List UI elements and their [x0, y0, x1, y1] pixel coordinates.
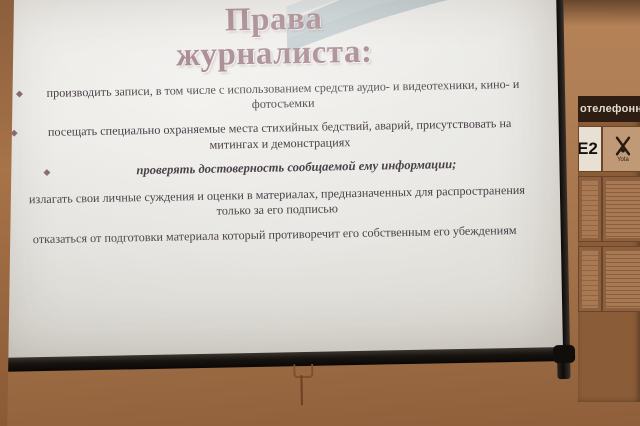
bullet-text: излагать свои личные суждения и оценки в…	[29, 183, 525, 218]
board-brand-label: Yota	[617, 157, 629, 163]
bullet-text: посещать специально охраняемые места сти…	[48, 116, 512, 151]
board-document-panel	[602, 176, 640, 242]
slide-bullet-item: ◆ излагать свои личные суждения и оценки…	[10, 182, 544, 223]
bullet-diamond-icon: ◆	[43, 166, 50, 180]
slide-bullet-item-emphasized: ◆ проверять достоверность сообщаемой ему…	[9, 156, 543, 182]
bullet-text: проверять достоверность сообщаемой ему и…	[136, 157, 456, 177]
slide-bullet-item: ◆ отказаться от подготовки материала кот…	[11, 222, 545, 248]
screen-pull-ring[interactable]	[293, 364, 313, 378]
board-brand-panel: Yota	[602, 126, 640, 172]
bullet-text: отказаться от подготовки материала котор…	[33, 223, 517, 246]
board-document-panel	[602, 246, 640, 312]
screen-fabric: Права журналиста: ◆ производить записи, …	[0, 0, 563, 362]
yota-logo-icon	[614, 136, 632, 156]
slide-bullet-item: ◆ посещать специально охраняемые места с…	[9, 116, 543, 157]
slide-bullet-list: ◆ производить записи, в том числе с испо…	[8, 76, 545, 248]
projection-screen: Права журналиста: ◆ производить записи, …	[0, 0, 592, 398]
notice-board-header: отелефонн	[578, 96, 640, 122]
slide-title: Права журналиста:	[4, 0, 543, 76]
slide-content: Права журналиста: ◆ производить записи, …	[0, 0, 563, 362]
screen-pull-cord[interactable]	[300, 375, 303, 405]
presentation-slide: Права журналиста: ◆ производить записи, …	[0, 0, 563, 362]
slide-bullet-item: ◆ производить записи, в том числе с испо…	[8, 76, 542, 117]
screen-bar-end-cap	[553, 345, 575, 363]
bullet-diamond-icon: ◆	[16, 87, 23, 101]
projector-room-photo: отелефонн Е2 Yota	[0, 0, 640, 426]
bullet-text: производить записи, в том числе с исполь…	[46, 76, 519, 111]
notice-board-header-text: отелефонн	[578, 103, 640, 115]
board-document-sheet	[606, 250, 640, 308]
board-document-sheet	[606, 180, 640, 238]
